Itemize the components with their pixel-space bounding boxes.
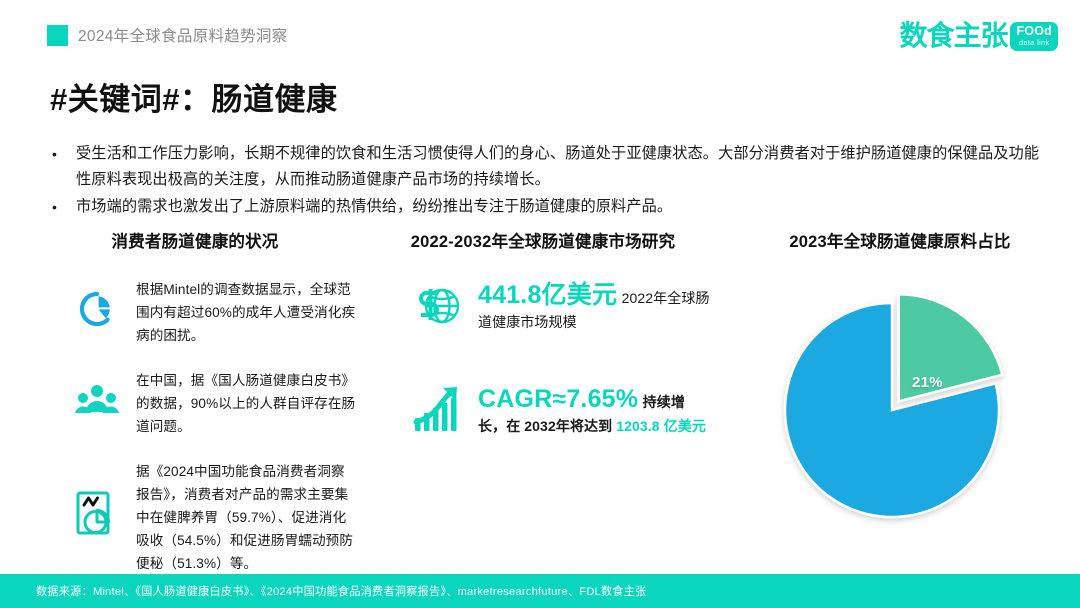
bullet-list: • 受生活和工作压力影响，长期不规律的饮食和生活习惯使得人们的身心、肠道处于亚健… [52, 141, 1042, 221]
logo-badge: FOOd data link [1010, 22, 1058, 51]
column-market-research: 2022-2032年全球肠道健康市场研究 [360, 228, 710, 597]
fact-text: 据《2024中国功能食品消费者洞察报告》，消费者对产品的需求主要集中在健脾养胃（… [136, 460, 358, 575]
column-title: 消费者肠道健康的状况 [30, 228, 360, 252]
content-columns: 消费者肠道健康的状况 根据Mintel的调查数据显示，全球范围内有超过60%的成… [0, 228, 1080, 597]
pie-chart-icon [74, 286, 120, 332]
column-title: 2022-2032年全球肠道健康市场研究 [376, 228, 710, 252]
bullet-marker-icon: • [52, 141, 62, 167]
pie-chart: 21% [770, 278, 1030, 540]
report-chart-icon [74, 490, 120, 536]
stat-block-market-size: 441.8亿美元 2022年全球肠道健康市场规模 [412, 278, 710, 334]
stat-value: 441.8亿美元 [478, 281, 617, 309]
list-item: • 受生活和工作压力影响，长期不规律的饮食和生活习惯使得人们的身心、肠道处于亚健… [52, 141, 1042, 193]
stat-body: CAGR≈7.65% 持续增长，在 2032年将达到 1203.8 亿美元 [478, 382, 710, 438]
logo-badge-bottom-text: data link [1019, 39, 1050, 47]
fact-text: 在中国，据《国人肠道健康白皮书》的数据，90%以上的人群自评存在肠道问题。 [136, 369, 358, 438]
column-title: 2023年全球肠道健康原料占比 [720, 228, 1080, 252]
column-ingredient-share: 2023年全球肠道健康原料占比 21% [710, 228, 1080, 597]
slide-footer: 数据来源：Mintel、《国人肠道健康白皮书》、《2024中国功能食品消费者洞察… [0, 574, 1080, 608]
list-item: • 市场端的需求也激发出了上游原料端的热情供给，纷纷推出专注于肠道健康的原料产品… [52, 194, 1042, 220]
pie-chart-svg [770, 278, 1030, 540]
people-group-icon [74, 377, 120, 423]
logo-badge-top-text: FOOd [1016, 25, 1052, 38]
brand-logo: 数食主张 FOOd data link [899, 22, 1058, 51]
fact-item: 根据Mintel的调查数据显示，全球范围内有超过60%的成年人遭受消化疾病的困扰… [74, 278, 360, 347]
growth-arrow-icon [412, 384, 464, 436]
page-title: #关键词#：肠道健康 [50, 74, 337, 119]
header-marker-icon [47, 25, 68, 46]
fact-item: 在中国，据《国人肠道健康白皮书》的数据，90%以上的人群自评存在肠道问题。 [74, 369, 360, 438]
fact-text: 根据Mintel的调查数据显示，全球范围内有超过60%的成年人遭受消化疾病的困扰… [136, 278, 358, 347]
dollar-globe-icon [412, 280, 464, 332]
stat-body: 441.8亿美元 2022年全球肠道健康市场规模 [478, 278, 710, 334]
stat-value: CAGR≈7.65% [478, 385, 638, 413]
slide-header: 2024年全球食品原料趋势洞察 [47, 24, 287, 46]
fact-item: 据《2024中国功能食品消费者洞察报告》，消费者对产品的需求主要集中在健脾养胃（… [74, 460, 360, 575]
bullet-marker-icon: • [52, 194, 62, 220]
slide-canvas: 2024年全球食品原料趋势洞察 数食主张 FOOd data link #关键词… [0, 0, 1080, 608]
stat-caption-highlight: 1203.8 亿美元 [616, 418, 706, 434]
bullet-text: 受生活和工作压力影响，长期不规律的饮食和生活习惯使得人们的身心、肠道处于亚健康状… [76, 141, 1042, 193]
bullet-text: 市场端的需求也激发出了上游原料端的热情供给，纷纷推出专注于肠道健康的原料产品。 [76, 194, 672, 220]
logo-wordmark: 数食主张 [899, 22, 1007, 50]
column-consumer-status: 消费者肠道健康的状况 根据Mintel的调查数据显示，全球范围内有超过60%的成… [0, 228, 360, 597]
stat-block-cagr: CAGR≈7.65% 持续增长，在 2032年将达到 1203.8 亿美元 [412, 382, 710, 438]
footer-source-text: 数据来源：Mintel、《国人肠道健康白皮书》、《2024中国功能食品消费者洞察… [0, 583, 647, 599]
header-kicker-text: 2024年全球食品原料趋势洞察 [78, 24, 287, 46]
